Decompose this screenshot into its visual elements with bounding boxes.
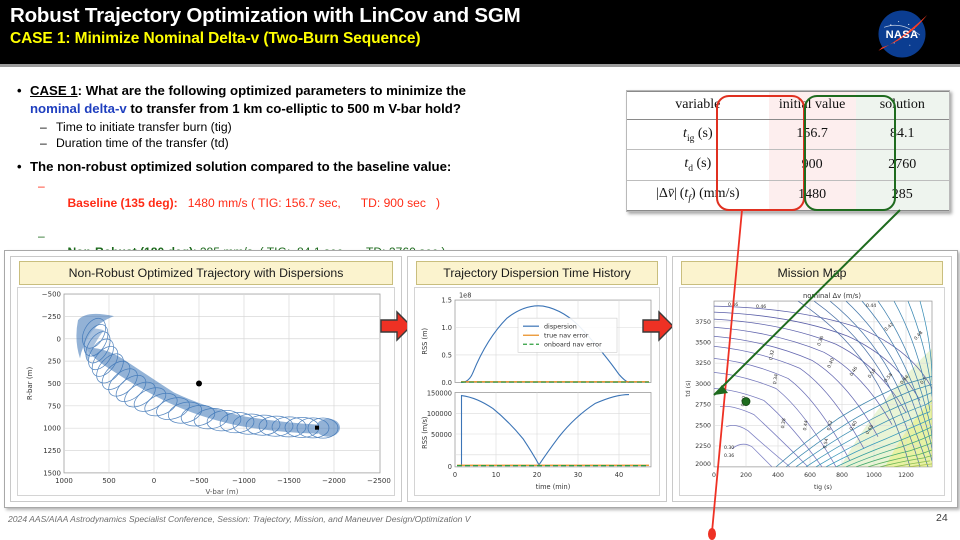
svg-text:0.46: 0.46	[728, 302, 738, 308]
svg-text:V-bar (m): V-bar (m)	[206, 487, 239, 495]
svg-text:150000: 150000	[427, 390, 452, 398]
sub-item-tig: – Time to initiate transfer burn (tig)	[8, 119, 620, 135]
trajectory-plot: −500 −250 0 250 500 750 1000 1250 1500 1…	[18, 288, 394, 495]
svg-text:0: 0	[453, 471, 457, 479]
panel-trajectory: Non-Robust Optimized Trajectory with Dis…	[10, 256, 402, 502]
svg-text:30: 30	[574, 471, 582, 479]
column-header-initial-value: initial value	[769, 92, 856, 120]
case1-label: CASE 1	[30, 83, 78, 98]
svg-text:0.5: 0.5	[442, 351, 452, 359]
bullet-dot-icon: •	[17, 158, 22, 175]
svg-text:500: 500	[102, 476, 115, 485]
svg-text:0.36: 0.36	[724, 453, 734, 459]
panel-dispersion-title: Trajectory Dispersion Time History	[416, 261, 658, 285]
dash-icon: –	[40, 119, 47, 135]
svg-text:10: 10	[492, 471, 500, 479]
svg-text:−2000: −2000	[322, 476, 346, 485]
result-baseline-value: 1480 mm/s ( TIG: 156.7 sec, TD: 900 sec …	[178, 196, 440, 210]
svg-text:50000: 50000	[431, 431, 452, 439]
header-divider	[0, 64, 960, 67]
bullet-comparison: • The non-robust optimized solution comp…	[8, 158, 620, 175]
slide-header: Robust Trajectory Optimization with LinC…	[0, 0, 960, 66]
svg-text:600: 600	[804, 472, 816, 479]
svg-text:1000: 1000	[43, 424, 61, 433]
panel-mission-map-title: Mission Map	[681, 261, 943, 285]
table-header-row: variable initial value solution	[627, 92, 949, 120]
page-subtitle: CASE 1: Minimize Nominal Delta-v (Two-Bu…	[10, 30, 420, 48]
svg-text:0: 0	[448, 463, 452, 471]
svg-text:onboard nav error: onboard nav error	[544, 341, 602, 349]
target-marker	[315, 426, 319, 430]
sub-item-td-label: Duration time of the transfer (td)	[56, 136, 229, 150]
svg-text:−1500: −1500	[277, 476, 301, 485]
case1-question-part1: : What are the following optimized param…	[78, 83, 466, 98]
svg-text:1250: 1250	[43, 446, 61, 455]
column-header-solution: solution	[856, 92, 949, 120]
svg-text:200: 200	[740, 472, 752, 479]
svg-text:800: 800	[836, 472, 848, 479]
svg-text:true nav error: true nav error	[544, 332, 589, 340]
flow-arrow-2-icon	[641, 309, 675, 343]
page-title: Robust Trajectory Optimization with LinC…	[10, 4, 521, 28]
svg-text:−1000: −1000	[232, 476, 256, 485]
svg-text:1000: 1000	[866, 472, 882, 479]
svg-text:3500: 3500	[695, 339, 711, 346]
nominal-delta-v-highlight: nominal delta-v	[30, 101, 127, 116]
panel-mission-map: Mission Map nominal Δv (m/s)	[672, 256, 952, 502]
svg-text:2250: 2250	[695, 443, 711, 450]
column-header-variable: variable	[627, 92, 769, 120]
svg-text:3000: 3000	[695, 381, 711, 388]
charts-container: Non-Robust Optimized Trajectory with Dis…	[4, 250, 958, 508]
bullet-dot-icon: •	[17, 82, 22, 100]
svg-text:1.5: 1.5	[442, 297, 452, 305]
svg-text:3250: 3250	[695, 360, 711, 367]
sub-item-td: – Duration time of the transfer (td)	[8, 135, 620, 151]
svg-text:250: 250	[48, 357, 61, 366]
dash-icon: –	[38, 178, 45, 195]
table-row: td (s) 900 2760	[627, 150, 949, 180]
svg-text:0: 0	[712, 472, 716, 479]
table-row: |Δv̄| (tf) (mm/s) 1480 285	[627, 180, 949, 210]
result-baseline: –Baseline (135 deg): 1480 mm/s ( TIG: 15…	[8, 178, 620, 228]
svg-text:R-bar (m): R-bar (m)	[25, 367, 34, 401]
panel-dispersion-body: 1e8 1.5 1.0 0.5 0.0 RSS (m) dispersion t…	[414, 287, 660, 496]
case1-question-part2: to transfer from 1 km co-elliptic to 500…	[127, 101, 461, 116]
footer-text: 2024 AAS/AIAA Astrodynamics Specialist C…	[8, 514, 471, 524]
svg-text:1200: 1200	[898, 472, 914, 479]
nasa-logo-icon: NASA	[874, 6, 930, 62]
svg-text:0.30: 0.30	[724, 445, 734, 451]
table-row: tig (s) 156.7 84.1	[627, 119, 949, 149]
svg-text:1.0: 1.0	[442, 324, 452, 332]
cell-solution-td: 2760	[856, 150, 949, 180]
svg-text:100000: 100000	[427, 410, 452, 418]
svg-text:40: 40	[615, 471, 623, 479]
panel-trajectory-title: Non-Robust Optimized Trajectory with Dis…	[19, 261, 393, 285]
page-number: 24	[936, 512, 948, 524]
svg-text:1000: 1000	[55, 476, 73, 485]
nasa-wordmark: NASA	[886, 29, 919, 41]
dispersion-time-history-plot: 1e8 1.5 1.0 0.5 0.0 RSS (m) dispersion t…	[415, 288, 659, 495]
svg-text:1e8: 1e8	[459, 292, 471, 300]
mission-map-plot: nominal Δv (m/s)	[680, 288, 944, 495]
svg-text:0.46: 0.46	[756, 304, 766, 310]
dash-icon: –	[38, 228, 45, 245]
svg-text:RSS (m/s): RSS (m/s)	[421, 416, 429, 449]
mission-map-solution-marker	[742, 398, 750, 406]
svg-text:tig (s): tig (s)	[814, 484, 832, 491]
panel-dispersion: Trajectory Dispersion Time History 1e8 1…	[407, 256, 667, 502]
bullet-case1: • CASE 1: What are the following optimiz…	[8, 82, 620, 117]
initial-value-connector-endpoint	[708, 528, 716, 540]
cell-variable-tig: tig (s)	[627, 119, 769, 149]
svg-text:0.44: 0.44	[866, 303, 876, 309]
cell-solution-tig: 84.1	[856, 119, 949, 149]
panel-trajectory-body: −500 −250 0 250 500 750 1000 1250 1500 1…	[17, 287, 395, 496]
comparison-label: The non-robust optimized solution compar…	[30, 159, 451, 174]
dispersion-legend: dispersion true nav error onboard nav er…	[518, 318, 617, 352]
cell-initial-tig: 156.7	[769, 119, 856, 149]
cell-variable-td: td (s)	[627, 150, 769, 180]
svg-text:750: 750	[48, 401, 61, 410]
svg-text:time (min): time (min)	[536, 483, 571, 491]
svg-text:−500: −500	[189, 476, 208, 485]
dash-icon: –	[40, 135, 47, 151]
cell-variable-deltav: |Δv̄| (tf) (mm/s)	[627, 180, 769, 210]
svg-text:2750: 2750	[695, 402, 711, 409]
svg-text:RSS (m): RSS (m)	[421, 327, 429, 354]
svg-text:0: 0	[152, 476, 156, 485]
svg-text:−2500: −2500	[367, 476, 391, 485]
origin-marker	[196, 380, 202, 386]
cell-initial-td: 900	[769, 150, 856, 180]
panel-mission-map-body: nominal Δv (m/s)	[679, 287, 945, 496]
svg-text:500: 500	[48, 379, 61, 388]
cell-initial-deltav: 1480	[769, 180, 856, 210]
bullet-list: • CASE 1: What are the following optimiz…	[8, 82, 620, 277]
svg-text:2000: 2000	[695, 461, 711, 468]
cell-solution-deltav: 285	[856, 180, 949, 210]
svg-text:−500: −500	[42, 290, 61, 299]
optimization-results-table: variable initial value solution tig (s) …	[626, 90, 950, 212]
svg-text:td (s): td (s)	[685, 380, 692, 396]
mission-map-chart-title: nominal Δv (m/s)	[803, 292, 861, 300]
svg-text:2500: 2500	[695, 422, 711, 429]
svg-text:20: 20	[533, 471, 541, 479]
result-baseline-label: Baseline (135 deg):	[67, 196, 177, 210]
svg-text:3750: 3750	[695, 319, 711, 326]
svg-text:0.0: 0.0	[442, 379, 452, 387]
svg-text:0: 0	[57, 334, 61, 343]
sub-item-tig-label: Time to initiate transfer burn (tig)	[56, 120, 232, 134]
svg-text:−250: −250	[42, 312, 61, 321]
svg-text:400: 400	[772, 472, 784, 479]
svg-text:dispersion: dispersion	[544, 323, 577, 331]
